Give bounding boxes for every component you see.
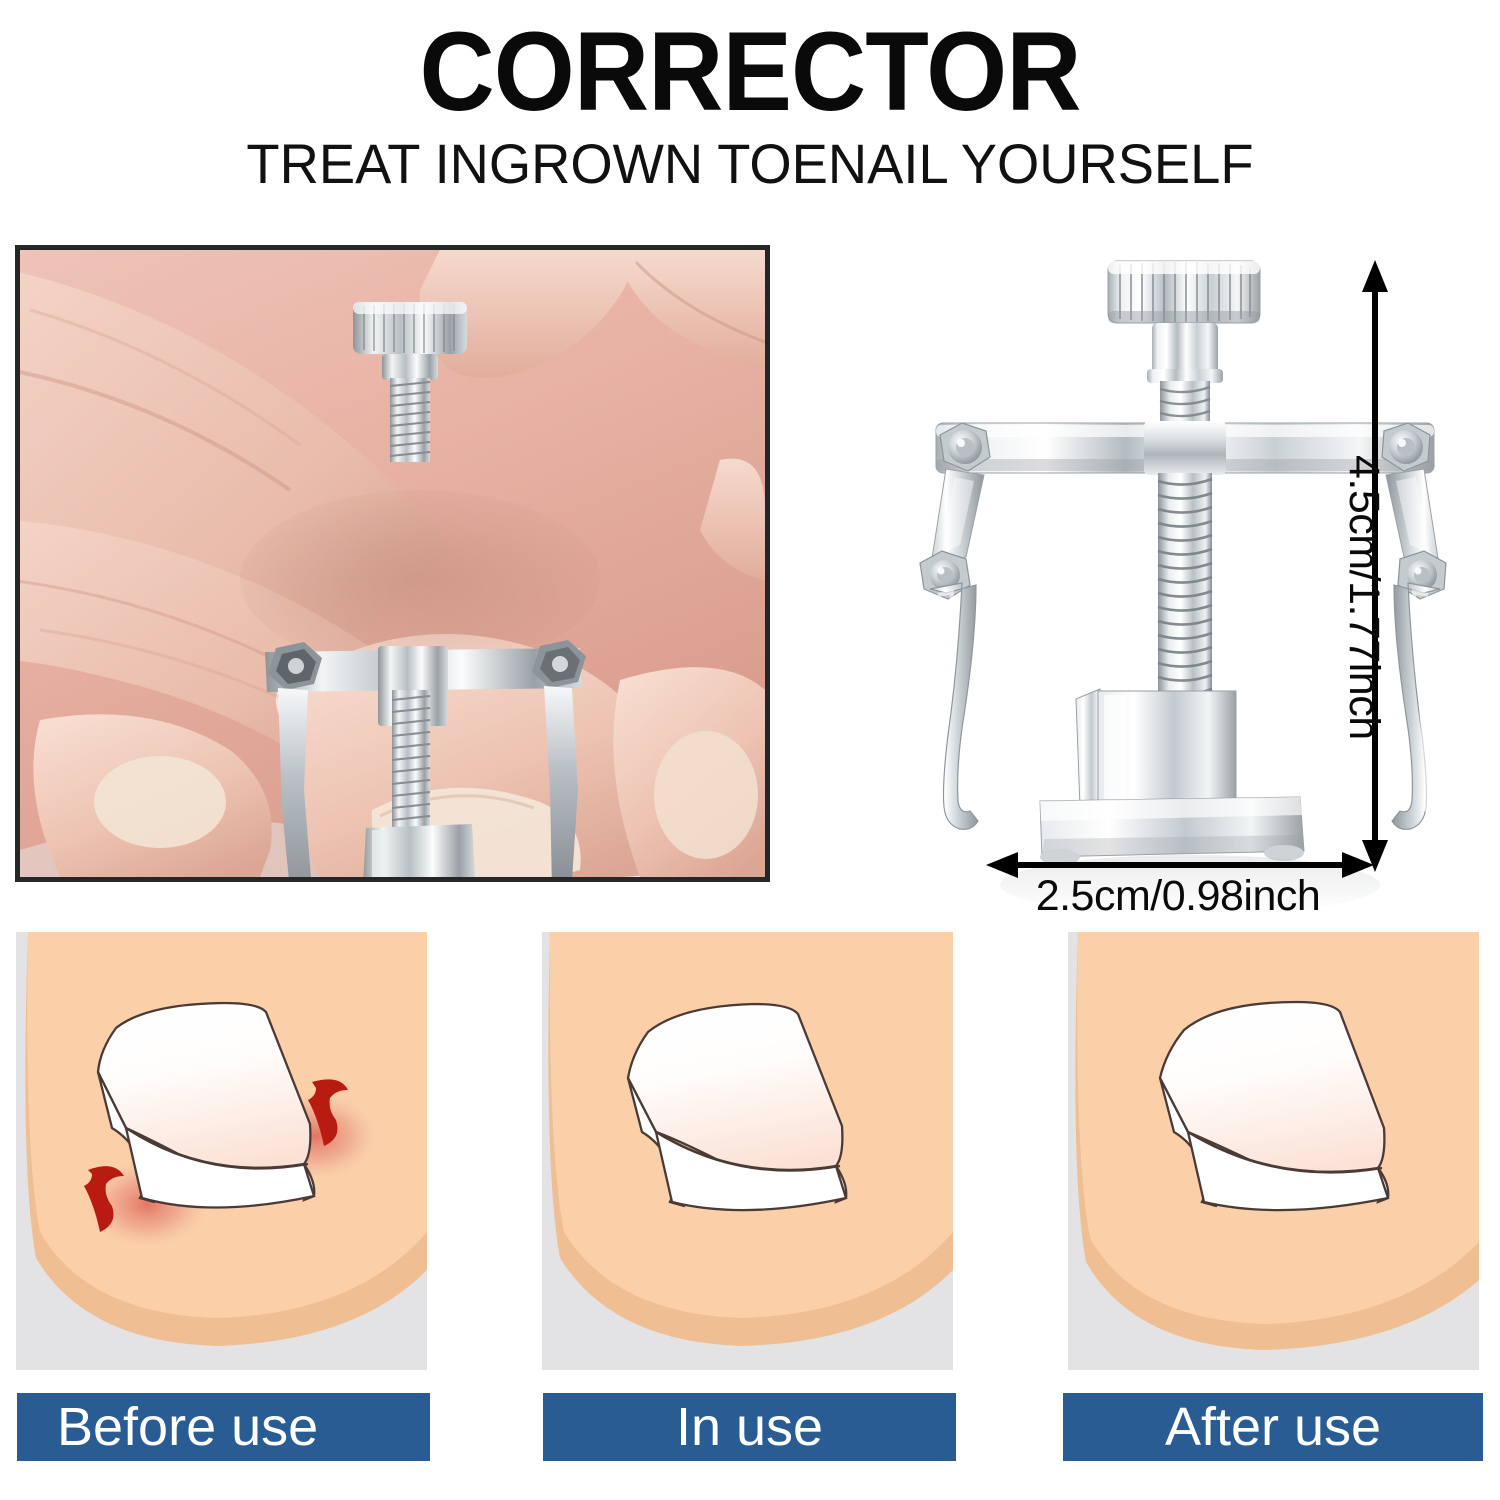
photo-content bbox=[20, 250, 765, 877]
photo-illustration bbox=[20, 250, 765, 877]
toe-illustration-after bbox=[1068, 932, 1479, 1370]
illustration-panel-before-use bbox=[16, 932, 427, 1370]
threaded-screw-shaft-upper bbox=[1160, 381, 1210, 428]
height-dimension-label: 4.5cm/1.77inch bbox=[1339, 455, 1388, 755]
toe-illustration-before bbox=[16, 932, 427, 1370]
width-dimension-label: 2.5cm/0.98inch bbox=[988, 872, 1368, 921]
page-title: CORRECTOR bbox=[53, 16, 1448, 128]
illustration-panel-in-use bbox=[542, 932, 953, 1370]
illustration-panel-after-use bbox=[1068, 932, 1479, 1370]
page-subtitle: TREAT INGROWN TOENAIL YOURSELF bbox=[23, 136, 1478, 192]
toe-illustration-in-use bbox=[542, 932, 953, 1370]
corrector-tool-illustration bbox=[900, 245, 1500, 925]
device-diagram bbox=[900, 245, 1500, 925]
header: CORRECTOR TREAT INGROWN TOENAIL YOURSELF bbox=[0, 0, 1500, 225]
center-foot bbox=[1040, 689, 1304, 865]
knurled-thumb-knob bbox=[1108, 261, 1260, 323]
caption-banner-before-use: Before use bbox=[17, 1393, 430, 1461]
hook-arm-right bbox=[1386, 469, 1446, 829]
knob-collar bbox=[1147, 323, 1223, 383]
caption-banner-after-use: After use bbox=[1063, 1393, 1483, 1461]
caption-banner-in-use: In use bbox=[543, 1393, 956, 1461]
product-usage-photo bbox=[15, 245, 770, 882]
hook-arm-left bbox=[920, 469, 984, 829]
threaded-screw-shaft-lower bbox=[1158, 473, 1212, 705]
